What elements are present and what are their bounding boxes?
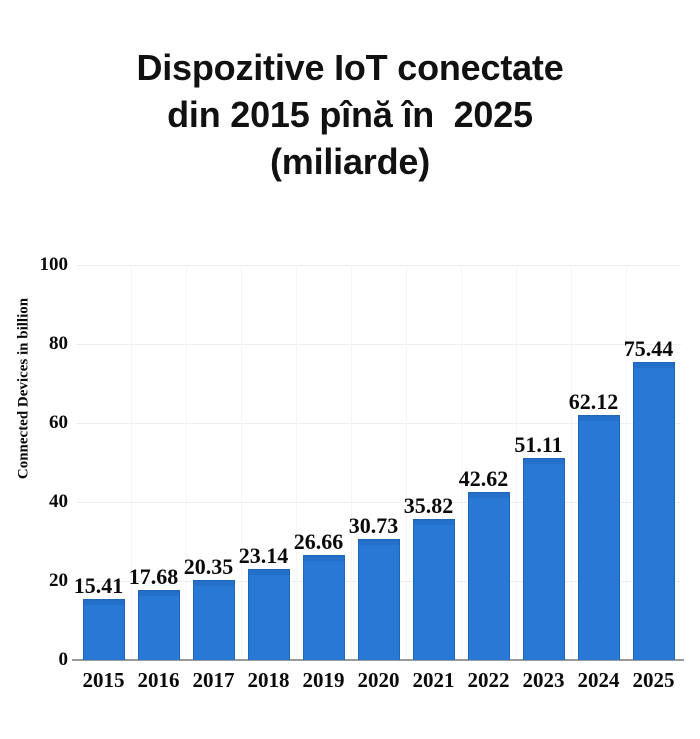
- y-tick-label: 0: [10, 649, 68, 671]
- grid-band: [626, 265, 627, 660]
- bar-value-label: 51.11: [499, 432, 579, 458]
- gridline: [76, 344, 681, 345]
- bar[interactable]: [358, 539, 400, 660]
- grid-band: [516, 265, 517, 660]
- bar-value-label: 62.12: [554, 389, 634, 415]
- grid-band: [461, 265, 462, 660]
- grid-band: [571, 265, 572, 660]
- bar-value-label: 75.44: [609, 336, 689, 362]
- x-tick-label: 2025: [614, 668, 694, 693]
- bar[interactable]: [523, 458, 565, 660]
- bar[interactable]: [413, 519, 455, 660]
- grid-band: [296, 265, 297, 660]
- grid-band: [241, 265, 242, 660]
- bar[interactable]: [248, 569, 290, 660]
- chart-page: Dispozitive IoT conectate din 2015 pînă …: [0, 0, 700, 739]
- bar[interactable]: [138, 590, 180, 660]
- bar[interactable]: [193, 580, 235, 660]
- gridline: [76, 265, 681, 266]
- chart-plot: 020406080100 Connected Devices in billio…: [0, 0, 700, 739]
- bar[interactable]: [83, 599, 125, 660]
- grid-band: [186, 265, 187, 660]
- bar[interactable]: [468, 492, 510, 660]
- y-axis-label: Connected Devices in billion: [16, 264, 33, 514]
- grid-band: [406, 265, 407, 660]
- bar[interactable]: [303, 555, 345, 660]
- bar-value-label: 35.82: [389, 493, 469, 519]
- bar-value-label: 42.62: [444, 466, 524, 492]
- bar[interactable]: [578, 415, 620, 660]
- grid-band: [131, 265, 132, 660]
- bar[interactable]: [633, 362, 675, 660]
- grid-band: [351, 265, 352, 660]
- y-axis-ticks: 020406080100: [0, 0, 68, 739]
